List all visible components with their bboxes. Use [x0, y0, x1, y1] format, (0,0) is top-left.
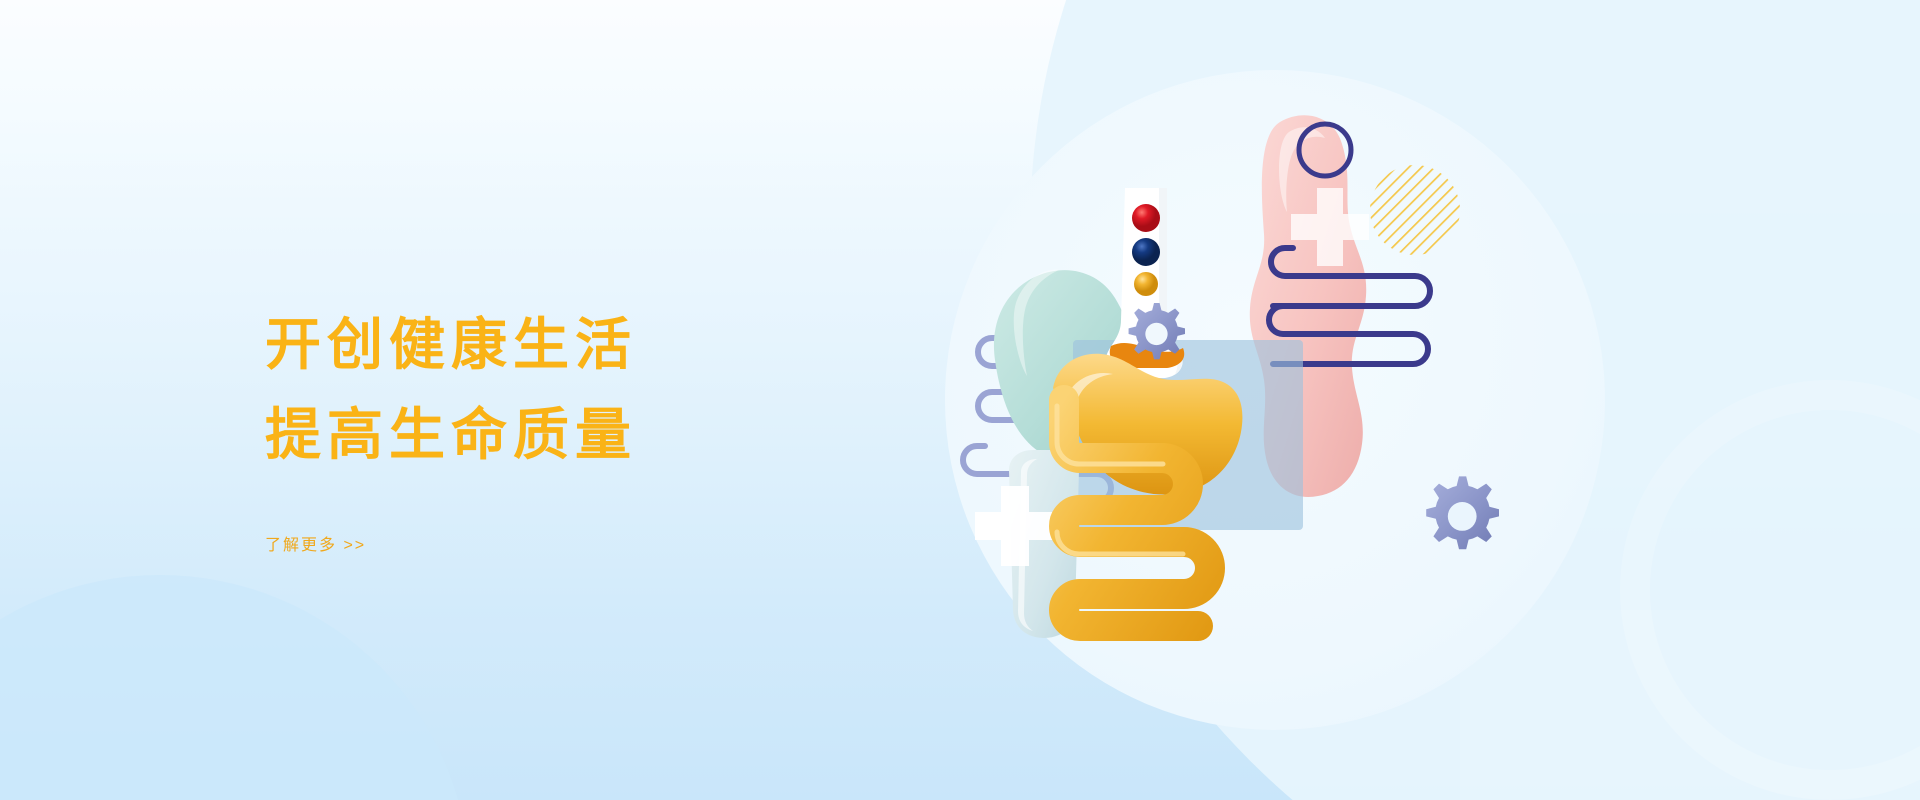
background-circle-bottom-left [0, 575, 470, 800]
headline-line-2: 提高生命质量 [265, 390, 885, 480]
headline-line-1: 开创健康生活 [265, 300, 885, 390]
flask-dot-yellow-icon [1134, 272, 1158, 296]
flask-dot-red-icon [1132, 204, 1160, 232]
flask-dot-navy-icon [1132, 238, 1160, 266]
digestive-system-illustration [945, 70, 1605, 730]
hero-copy-block: 开创健康生活 提高生命质量 了解更多 >> [265, 300, 885, 555]
gear-small-icon [1129, 303, 1185, 359]
hatched-circle-icon [1370, 165, 1460, 255]
illustration-svg [945, 70, 1605, 730]
learn-more-link[interactable]: 了解更多 >> [265, 531, 366, 555]
gear-large-icon [1426, 476, 1499, 549]
